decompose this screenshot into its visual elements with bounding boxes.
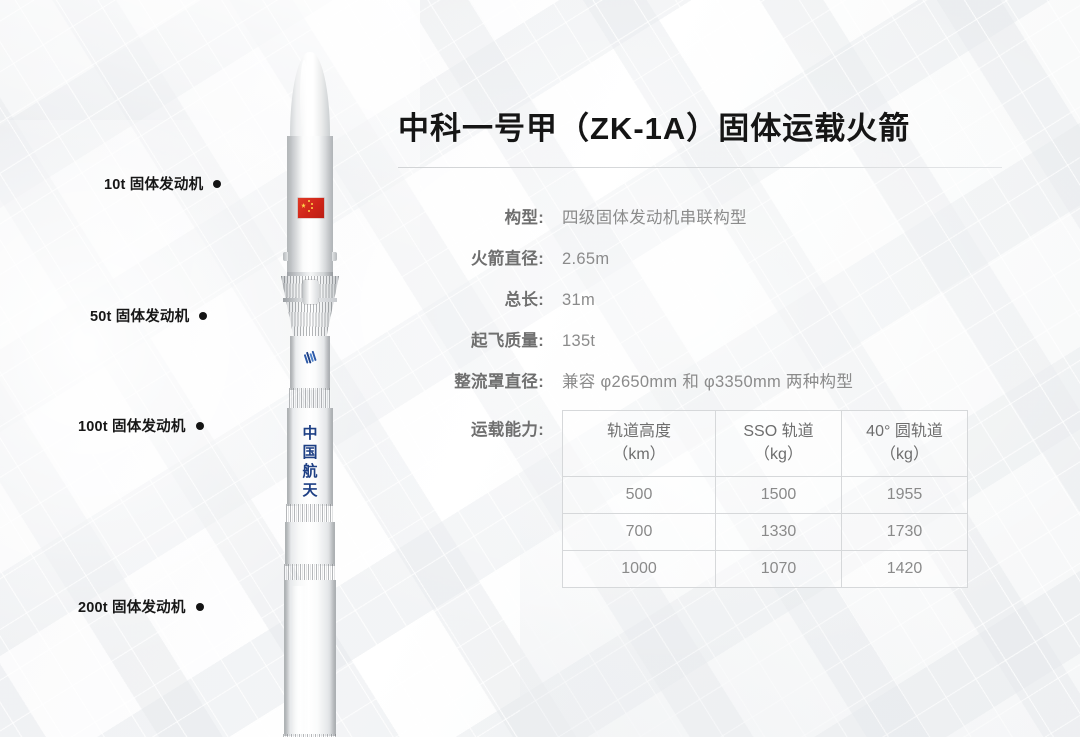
- nose-cone: [290, 52, 330, 144]
- stage-1-edge: [284, 580, 336, 736]
- china-flag-icon: [298, 198, 324, 218]
- table-row: 500 1500 1955: [563, 476, 968, 513]
- title-divider: [398, 167, 1002, 168]
- stage-band-upper: [289, 388, 331, 410]
- header-line-2: （kg）: [880, 446, 929, 463]
- callout-dot-icon: [196, 422, 204, 430]
- infographic-canvas: 中 国 航 天 10t 固体发动机 50t 固体发动机 100t 固体发动机 2…: [0, 0, 1080, 737]
- nose-cone-highlight: [300, 60, 308, 134]
- table-header-sso: SSO 轨道 （kg）: [716, 410, 842, 476]
- callout-label: 50t 固体发动机: [90, 305, 189, 326]
- spec-label: 起飞质量:: [398, 327, 544, 351]
- callout-engine-50t: 50t 固体发动机: [90, 305, 207, 326]
- fairing-lug-left: [283, 252, 288, 261]
- cell-40deg: 1730: [842, 513, 968, 550]
- table-header-row: 轨道高度 （km） SSO 轨道 （kg） 40° 圆轨道 （kg）: [563, 410, 968, 476]
- spec-label: 构型:: [398, 204, 544, 228]
- cell-sso: 1070: [716, 550, 842, 587]
- payload-capacity-table: 轨道高度 （km） SSO 轨道 （kg） 40° 圆轨道 （kg）: [562, 410, 968, 588]
- body-text-char-2: 国: [292, 443, 328, 462]
- callout-dot-icon: [213, 180, 221, 188]
- spec-row-configuration: 构型: 四级固体发动机串联构型: [398, 204, 1010, 228]
- callout-label: 10t 固体发动机: [104, 173, 203, 194]
- cell-sso: 1500: [716, 476, 842, 513]
- header-line-1: 40° 圆轨道: [866, 423, 943, 440]
- spec-label: 火箭直径:: [398, 245, 544, 269]
- callout-engine-100t: 100t 固体发动机: [78, 415, 204, 436]
- callout-dot-icon: [196, 603, 204, 611]
- spec-value: 兼容 φ2650mm 和 φ3350mm 两种构型: [562, 368, 853, 392]
- stage-1-upper-edge: [285, 522, 335, 566]
- spec-value: 四级固体发动机串联构型: [562, 204, 747, 228]
- spec-label: 总长:: [398, 286, 544, 310]
- interstage-equipment-box: [303, 280, 318, 304]
- cell-40deg: 1955: [842, 476, 968, 513]
- callout-engine-200t: 200t 固体发动机: [78, 596, 204, 617]
- header-line-2: （km）: [612, 446, 665, 463]
- capacity-label: 运载能力:: [398, 410, 544, 440]
- body-text-char-1: 中: [292, 424, 328, 443]
- table-row: 700 1330 1730: [563, 513, 968, 550]
- spec-value: 135t: [562, 332, 595, 351]
- cell-altitude: 1000: [563, 550, 716, 587]
- spec-label: 整流罩直径:: [398, 368, 544, 392]
- cell-altitude: 700: [563, 513, 716, 550]
- spec-panel: 中科一号甲（ZK-1A）固体运载火箭 构型: 四级固体发动机串联构型 火箭直径:…: [398, 110, 1010, 588]
- callout-label: 100t 固体发动机: [78, 415, 186, 436]
- callout-label: 200t 固体发动机: [78, 596, 186, 617]
- stage-band-middle: [286, 504, 334, 524]
- header-line-2: （kg）: [754, 446, 803, 463]
- table-row: 1000 1070 1420: [563, 550, 968, 587]
- cell-altitude: 500: [563, 476, 716, 513]
- body-text-char-3: 航: [292, 462, 328, 481]
- header-line-1: 轨道高度: [607, 423, 671, 440]
- callout-engine-10t: 10t 固体发动机: [104, 173, 221, 194]
- spec-value: 2.65m: [562, 250, 609, 269]
- spec-row-fairing-diameter: 整流罩直径: 兼容 φ2650mm 和 φ3350mm 两种构型: [398, 368, 1010, 392]
- body-text-char-4: 天: [292, 481, 328, 500]
- table-header-40deg: 40° 圆轨道 （kg）: [842, 410, 968, 476]
- header-line-1: SSO 轨道: [743, 423, 813, 440]
- cell-sso: 1330: [716, 513, 842, 550]
- fairing-lug-right: [332, 252, 337, 261]
- spec-row-length: 总长: 31m: [398, 286, 1010, 310]
- capacity-section: 运载能力: 轨道高度 （km） SSO 轨道 （kg）: [398, 410, 1010, 588]
- page-title: 中科一号甲（ZK-1A）固体运载火箭: [398, 110, 1010, 149]
- rocket-illustration: 中 国 航 天: [262, 52, 358, 737]
- cell-40deg: 1420: [842, 550, 968, 587]
- spec-list: 构型: 四级固体发动机串联构型 火箭直径: 2.65m 总长: 31m 起飞质量…: [398, 204, 1010, 588]
- spec-value: 31m: [562, 291, 595, 310]
- spec-row-liftoff-mass: 起飞质量: 135t: [398, 327, 1010, 351]
- rocket-body-text: 中 国 航 天: [292, 424, 328, 500]
- spec-row-diameter: 火箭直径: 2.65m: [398, 245, 1010, 269]
- callout-dot-icon: [199, 312, 207, 320]
- casc-logo-icon: [301, 348, 320, 367]
- table-header-orbit-altitude: 轨道高度 （km）: [563, 410, 716, 476]
